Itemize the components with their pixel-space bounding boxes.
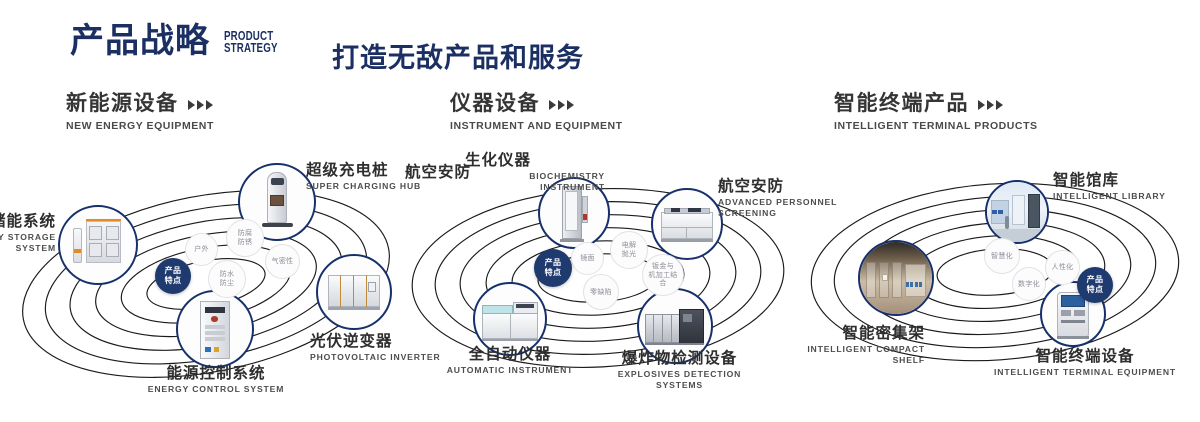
section-heading-instrument: 仪器设备 INSTRUMENT AND EQUIPMENT <box>450 93 623 132</box>
caption-intelligent-terminal-equipment: 智能终端设备 INTELLIGENT TERMINAL EQUIPMENT <box>985 348 1185 378</box>
caption-intelligent-library: 智能馆库 INTELLIGENT LIBRARY <box>1053 172 1200 202</box>
feature-bubble: 镜面 <box>571 242 604 275</box>
caption-en: INTELLIGENT LIBRARY <box>1053 191 1200 202</box>
caption-biochemistry-instrument: 生化仪器 BIOCHEMISTRY INSTRUMENT <box>465 152 605 193</box>
section-title-en: INTELLIGENT TERMINAL PRODUCTS <box>834 120 1038 132</box>
page-tagline: 打造无敌产品和服务 <box>332 36 584 75</box>
section-heading-new-energy: 新能源设备 NEW ENERGY EQUIPMENT <box>66 93 214 132</box>
section-title-cn: 仪器设备 <box>450 93 540 114</box>
chevron-right-icon <box>188 98 213 110</box>
section-title-en: INSTRUMENT AND EQUIPMENT <box>450 120 623 132</box>
caption-en: BIOCHEMISTRY INSTRUMENT <box>465 171 605 192</box>
caption-cn: 储能系统 <box>0 213 56 230</box>
cluster-intelligent: 智能馆库 INTELLIGENT LIBRARY 智能终端设备 INTELLIG… <box>795 150 1195 400</box>
photovoltaic-inverter-photo <box>318 256 390 328</box>
node-energy-storage-system[interactable] <box>58 205 138 285</box>
feature-bubble: 智慧化 <box>984 238 1020 274</box>
feature-bubble: 防腐 防锈 <box>226 219 264 257</box>
caption-en: INTELLIGENT COMPACT SHELF <box>775 344 925 365</box>
node-photovoltaic-inverter[interactable] <box>316 254 392 330</box>
caption-cn: 智能馆库 <box>1053 172 1200 189</box>
screening-machine-photo <box>653 190 721 258</box>
page-title-cn: 产品战略 <box>70 24 210 58</box>
chevron-right-icon <box>978 98 1003 110</box>
caption-intelligent-compact-shelf: 智能密集架 INTELLIGENT COMPACT SHELF <box>775 325 925 366</box>
caption-en: ENERGY CONTROL SYSTEM <box>126 384 306 395</box>
caption-cn: 智能密集架 <box>775 325 925 342</box>
node-intelligent-library[interactable] <box>985 180 1049 244</box>
feature-bubble: 数字化 <box>1012 267 1046 301</box>
section-title-en: NEW ENERGY EQUIPMENT <box>66 120 214 132</box>
intelligent-library-photo <box>987 182 1047 242</box>
energy-control-photo <box>178 292 252 366</box>
feature-bubble: 防水 防尘 <box>208 260 246 298</box>
feature-bubble: 人性化 <box>1045 250 1080 285</box>
cluster-new-energy: 储能系统 ENERGY STORAGE SYSTEM 超级充电桩 SUPER C… <box>10 150 410 400</box>
caption-cn: 全自动仪器 <box>440 346 580 363</box>
page-title-en: PRODUCT STRATEGY <box>224 30 278 59</box>
caption-cn: 智能终端设备 <box>985 348 1185 365</box>
caption-cn: 能源控制系统 <box>126 365 306 382</box>
core-badge-product-features: 产品 特点 <box>155 258 191 294</box>
core-badge-product-features: 产品 特点 <box>1077 267 1113 303</box>
caption-en: INTELLIGENT TERMINAL EQUIPMENT <box>985 367 1185 378</box>
automatic-instrument-photo <box>475 284 545 354</box>
node-advanced-personnel-screening[interactable] <box>651 188 723 260</box>
feature-bubble: 钣金与 机加工结合 <box>642 254 684 296</box>
caption-en: ENERGY STORAGE SYSTEM <box>0 232 56 253</box>
caption-explosives-detection-systems: 爆炸物检测设备 EXPLOSIVES DETECTION SYSTEMS <box>612 350 747 391</box>
caption-energy-storage-system: 储能系统 ENERGY STORAGE SYSTEM <box>0 213 56 254</box>
caption-en: EXPLOSIVES DETECTION SYSTEMS <box>612 369 747 390</box>
feature-bubble: 户外 <box>185 233 218 266</box>
page-title: 产品战略 PRODUCT STRATEGY <box>70 24 293 58</box>
section-title-cn: 新能源设备 <box>66 93 179 114</box>
caption-automatic-instrument: 全自动仪器 AUTOMATIC INSTRUMENT <box>440 346 580 376</box>
product-strategy-infographic: 产品战略 PRODUCT STRATEGY 打造无敌产品和服务 新能源设备 NE… <box>0 0 1200 422</box>
feature-bubble: 零缺陷 <box>583 274 619 310</box>
feature-bubble: 气密性 <box>265 244 300 279</box>
compact-shelf-photo <box>860 242 932 314</box>
cluster-instrument: 航空安防 生化仪器 BIOCHEMISTRY INSTRUMENT 航空安防 A… <box>400 150 800 400</box>
feature-bubble: 电解 抛光 <box>610 231 648 269</box>
caption-cn: 爆炸物检测设备 <box>612 350 747 367</box>
node-intelligent-compact-shelf[interactable] <box>858 240 934 316</box>
caption-energy-control-system: 能源控制系统 ENERGY CONTROL SYSTEM <box>126 365 306 395</box>
node-energy-control-system[interactable] <box>176 290 254 368</box>
core-badge-product-features: 产品 特点 <box>534 249 572 287</box>
energy-storage-photo <box>60 207 136 283</box>
chevron-right-icon <box>549 98 574 110</box>
section-heading-intelligent: 智能终端产品 INTELLIGENT TERMINAL PRODUCTS <box>834 93 1038 132</box>
caption-en: AUTOMATIC INSTRUMENT <box>440 365 580 376</box>
caption-cn: 生化仪器 <box>465 152 605 169</box>
section-title-cn: 智能终端产品 <box>834 93 969 114</box>
